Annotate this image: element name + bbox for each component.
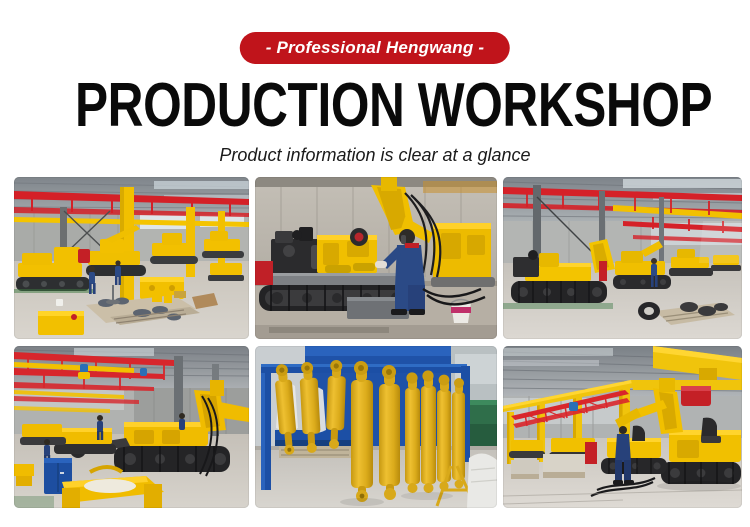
page-title: PRODUCTION WORKSHOP <box>75 76 675 136</box>
gallery-photo-5 <box>255 346 497 508</box>
workshop-aisle-illustration <box>503 346 742 508</box>
page-subtitle: Product information is clear at a glance <box>0 143 750 167</box>
eyebrow-badge: - Professional Hengwang - <box>240 32 510 64</box>
gallery-photo-1 <box>14 177 249 339</box>
gallery-photo-6 <box>503 346 742 508</box>
promo-banner: - Professional Hengwang - PRODUCTION WOR… <box>0 0 750 527</box>
assembly-line-illustration <box>14 346 249 508</box>
gallery-photo-3 <box>503 177 742 339</box>
production-bay-illustration <box>503 177 742 339</box>
gallery-photo-2 <box>255 177 497 339</box>
hydraulic-cylinders-illustration <box>255 346 497 508</box>
rig-assembly-illustration <box>255 177 497 339</box>
photo-gallery <box>14 177 736 508</box>
gallery-photo-4 <box>14 346 249 508</box>
workshop-overview-illustration <box>14 177 249 339</box>
header: - Professional Hengwang - PRODUCTION WOR… <box>0 0 750 177</box>
